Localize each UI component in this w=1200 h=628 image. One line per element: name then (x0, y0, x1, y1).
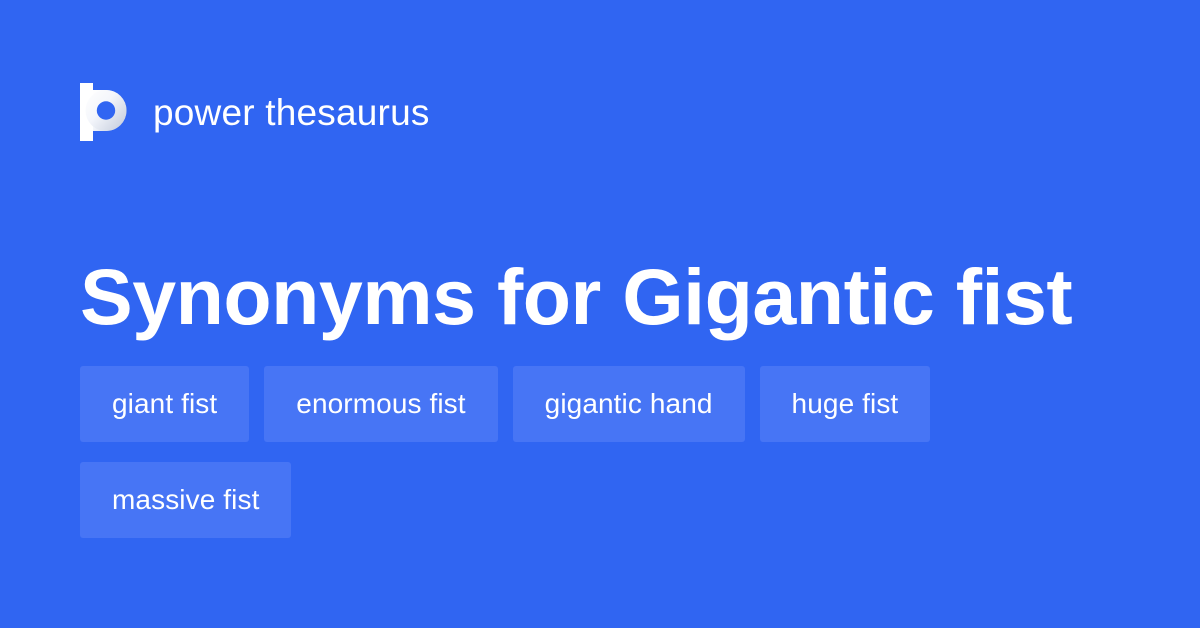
brand-lockup[interactable]: power thesaurus (80, 82, 430, 142)
synonym-chip[interactable]: huge fist (760, 366, 931, 442)
page-title: Synonyms for Gigantic fist (80, 249, 1150, 345)
brand-name: power thesaurus (153, 94, 430, 131)
synonym-label: huge fist (792, 390, 899, 418)
synonym-label: enormous fist (296, 390, 465, 418)
synonym-label: massive fist (112, 486, 259, 514)
synonym-label: giant fist (112, 390, 217, 418)
synonym-chip[interactable]: giant fist (80, 366, 249, 442)
share-card: power thesaurus Synonyms for Gigantic fi… (0, 0, 1200, 628)
synonym-list: giant fist enormous fist gigantic hand h… (80, 366, 1140, 538)
synonym-chip[interactable]: massive fist (80, 462, 291, 538)
synonym-label: gigantic hand (545, 390, 713, 418)
power-thesaurus-b-logo-icon (80, 83, 134, 141)
synonym-chip[interactable]: enormous fist (264, 366, 497, 442)
synonym-chip[interactable]: gigantic hand (513, 366, 745, 442)
